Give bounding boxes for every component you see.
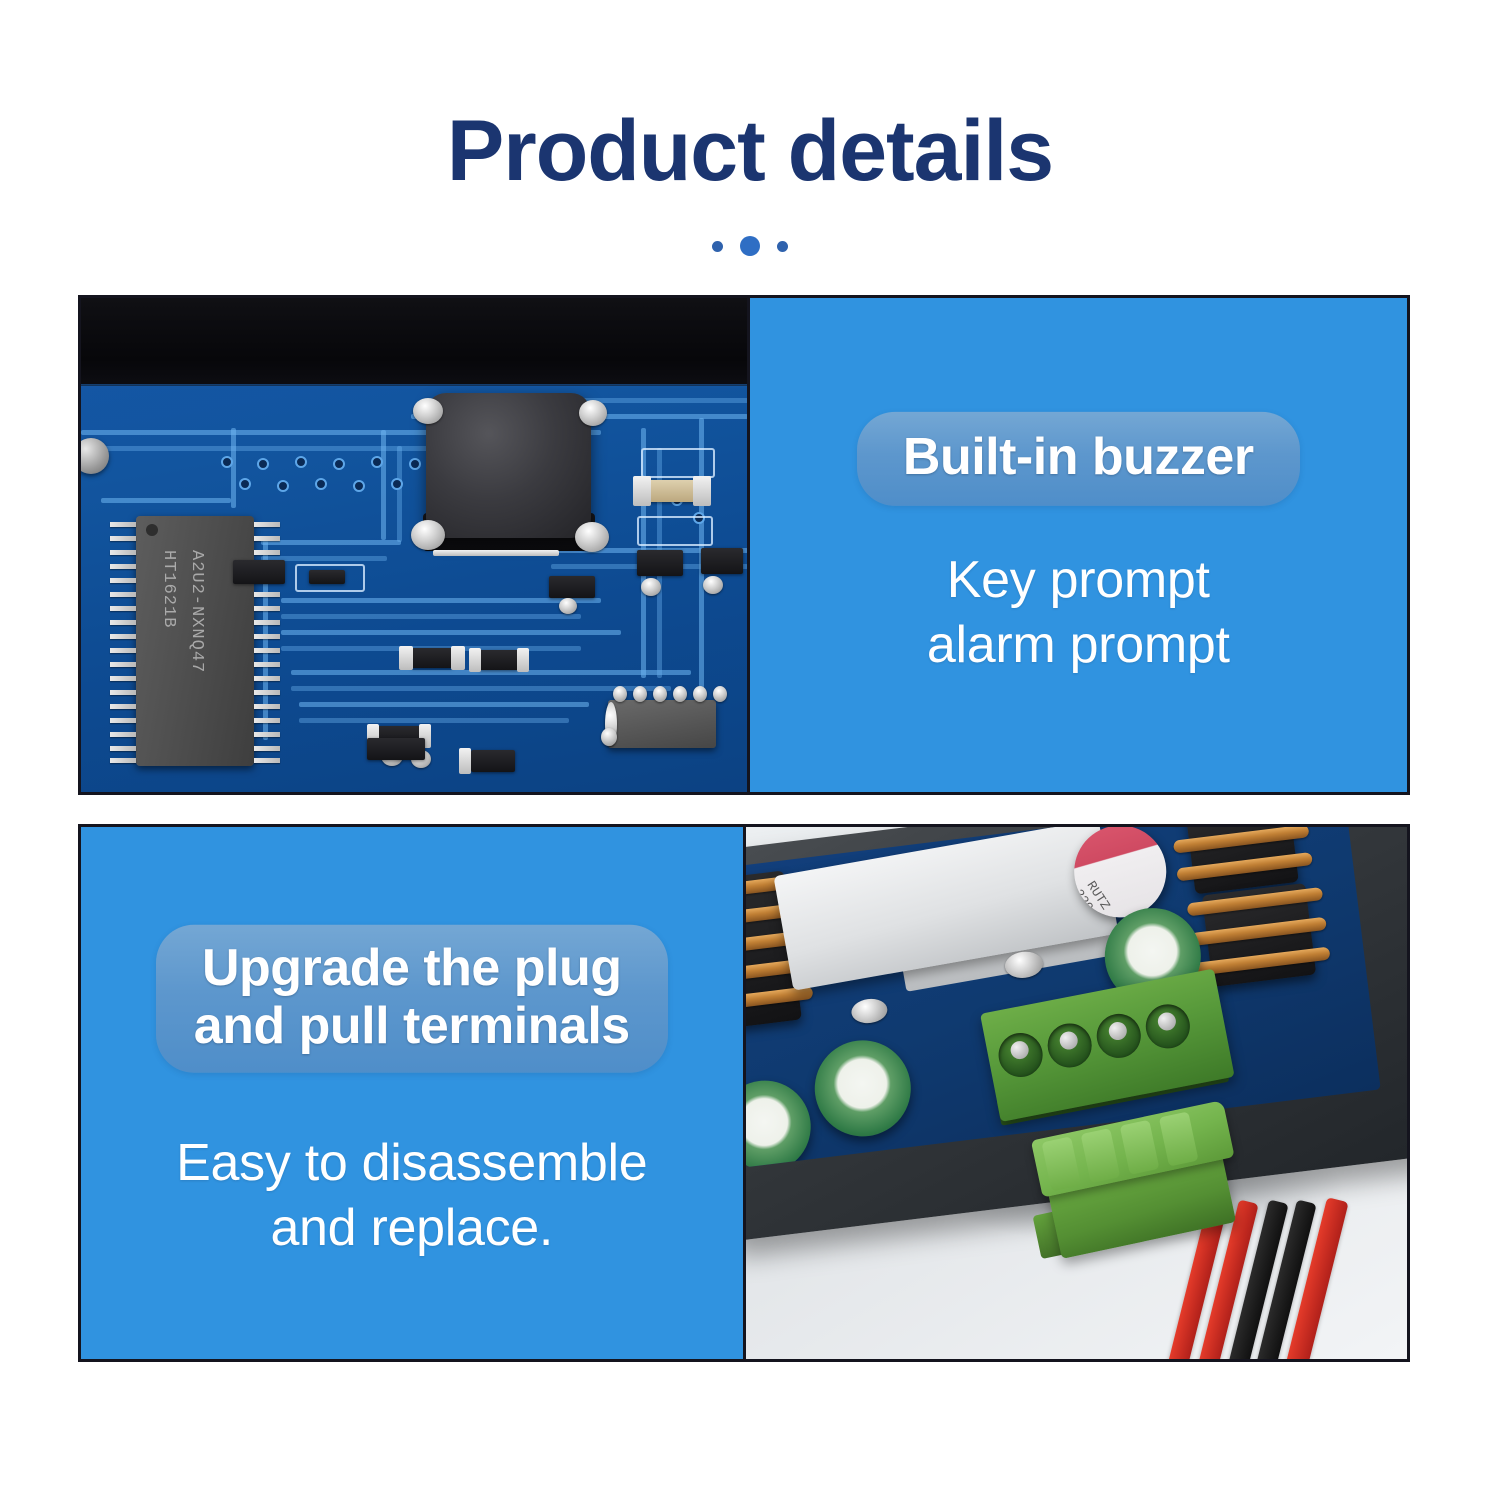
ic-pin1-dot (146, 524, 158, 536)
terminals-badge: Upgrade the plug and pull terminals (156, 925, 668, 1073)
page-title: Product details (0, 108, 1500, 194)
toroid-inductor (1184, 827, 1298, 894)
capacitor-green (746, 1075, 816, 1167)
dot-icon (777, 241, 788, 252)
feature-row-buzzer: HT1621B A2U2-NXNQ47 (78, 295, 1410, 795)
buzzer-badge: Built-in buzzer (857, 412, 1300, 506)
feature-row-terminals: Upgrade the plug and pull terminals Easy… (78, 824, 1410, 1362)
capacitor-green (809, 1035, 916, 1142)
ic-label-line1: HT1621B (159, 550, 178, 628)
terminals-subtitle-line1: Easy to disassemble (99, 1131, 725, 1196)
qfn-chip (608, 700, 716, 748)
buzzer-subtitle: Key prompt alarm prompt (768, 548, 1390, 678)
terminals-badge-line1: Upgrade the plug (194, 939, 630, 997)
terminals-badge-line2: and pull terminals (194, 997, 630, 1055)
ic-pins-right (254, 516, 280, 766)
ic-chip: HT1621B A2U2-NXNQ47 (136, 516, 254, 766)
terminal-block (980, 969, 1235, 1122)
buzzer-text-panel: Built-in buzzer Key prompt alarm prompt (750, 298, 1408, 792)
buzzer-subtitle-line1: Key prompt (768, 548, 1390, 613)
page-header: Product details (0, 0, 1500, 258)
buzzer-subtitle-line2: alarm prompt (768, 613, 1390, 678)
decorative-dots (0, 234, 1500, 258)
dot-icon (712, 241, 723, 252)
board-screw (81, 438, 109, 474)
module-pcb: RUTZ 220 50V (746, 827, 1381, 1167)
module-connector-photo: RUTZ 220 50V (746, 827, 1408, 1359)
toroid-inductor (1201, 883, 1315, 987)
terminals-subtitle-line2: and replace. (99, 1196, 725, 1261)
terminals-text-panel: Upgrade the plug and pull terminals Easy… (81, 827, 743, 1359)
pcb-closeup-photo: HT1621B A2U2-NXNQ47 (81, 298, 747, 792)
terminals-subtitle: Easy to disassemble and replace. (99, 1131, 725, 1261)
dot-icon (740, 236, 760, 256)
feature-panel-grid: HT1621B A2U2-NXNQ47 (78, 295, 1410, 1362)
ic-label-line2: A2U2-NXNQ47 (187, 550, 206, 673)
ic-pins-left (110, 516, 136, 766)
buzzer-component (426, 393, 591, 538)
pcb-black-edge (81, 298, 747, 386)
